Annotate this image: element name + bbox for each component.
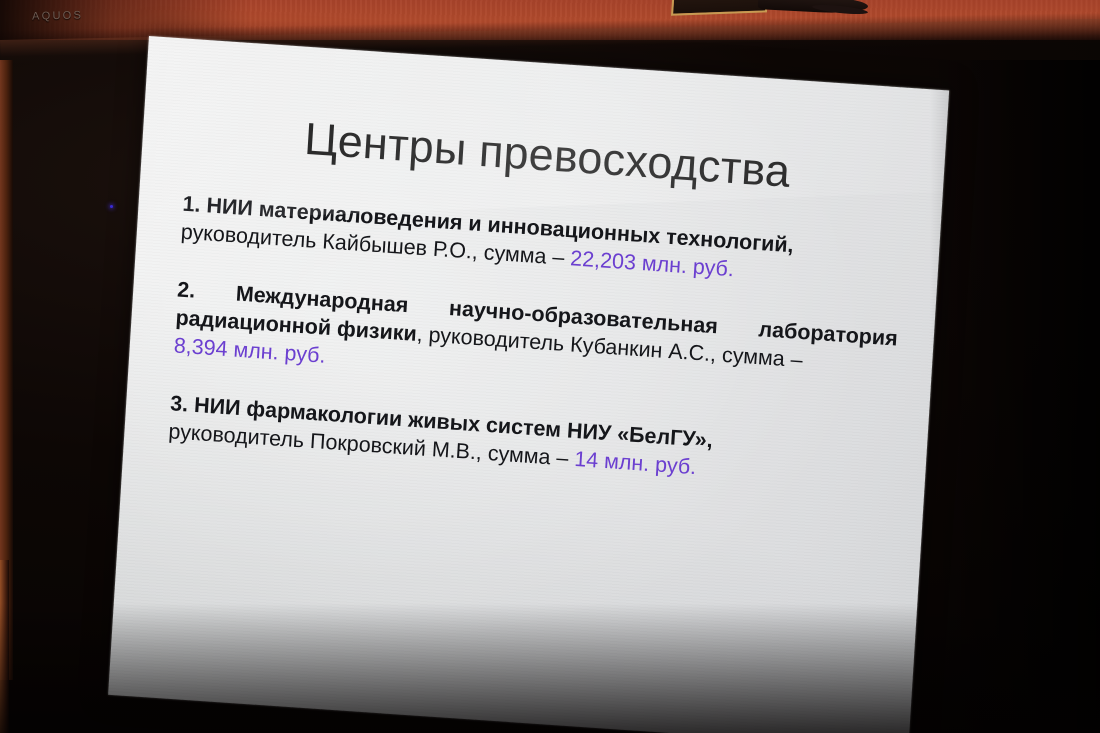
bullet-number: 3. [170, 391, 189, 416]
bezel-bottom-shadow [0, 603, 1100, 733]
brand-logo: AQUOS [32, 9, 84, 22]
slide-bullet-2: 2. Международная научно-образовательная … [173, 276, 899, 409]
power-led-icon [110, 205, 113, 208]
bullet-amount: 14 млн. руб. [574, 447, 697, 479]
conference-room-photo: AQUOS Центры превосходства 1. НИИ матери… [0, 0, 1100, 733]
slide-title: Центры превосходства [186, 105, 910, 206]
slide-bullet-3: 3. НИИ фармакологии живых систем НИУ «Бе… [168, 390, 892, 495]
bullet-amount: 8,394 млн. руб. [173, 333, 326, 367]
bullet-number: 1. [182, 192, 201, 217]
slide-bullet-1: 1. НИИ материаловедения и инновационных … [180, 191, 904, 296]
bullet-number: 2. [177, 277, 196, 302]
